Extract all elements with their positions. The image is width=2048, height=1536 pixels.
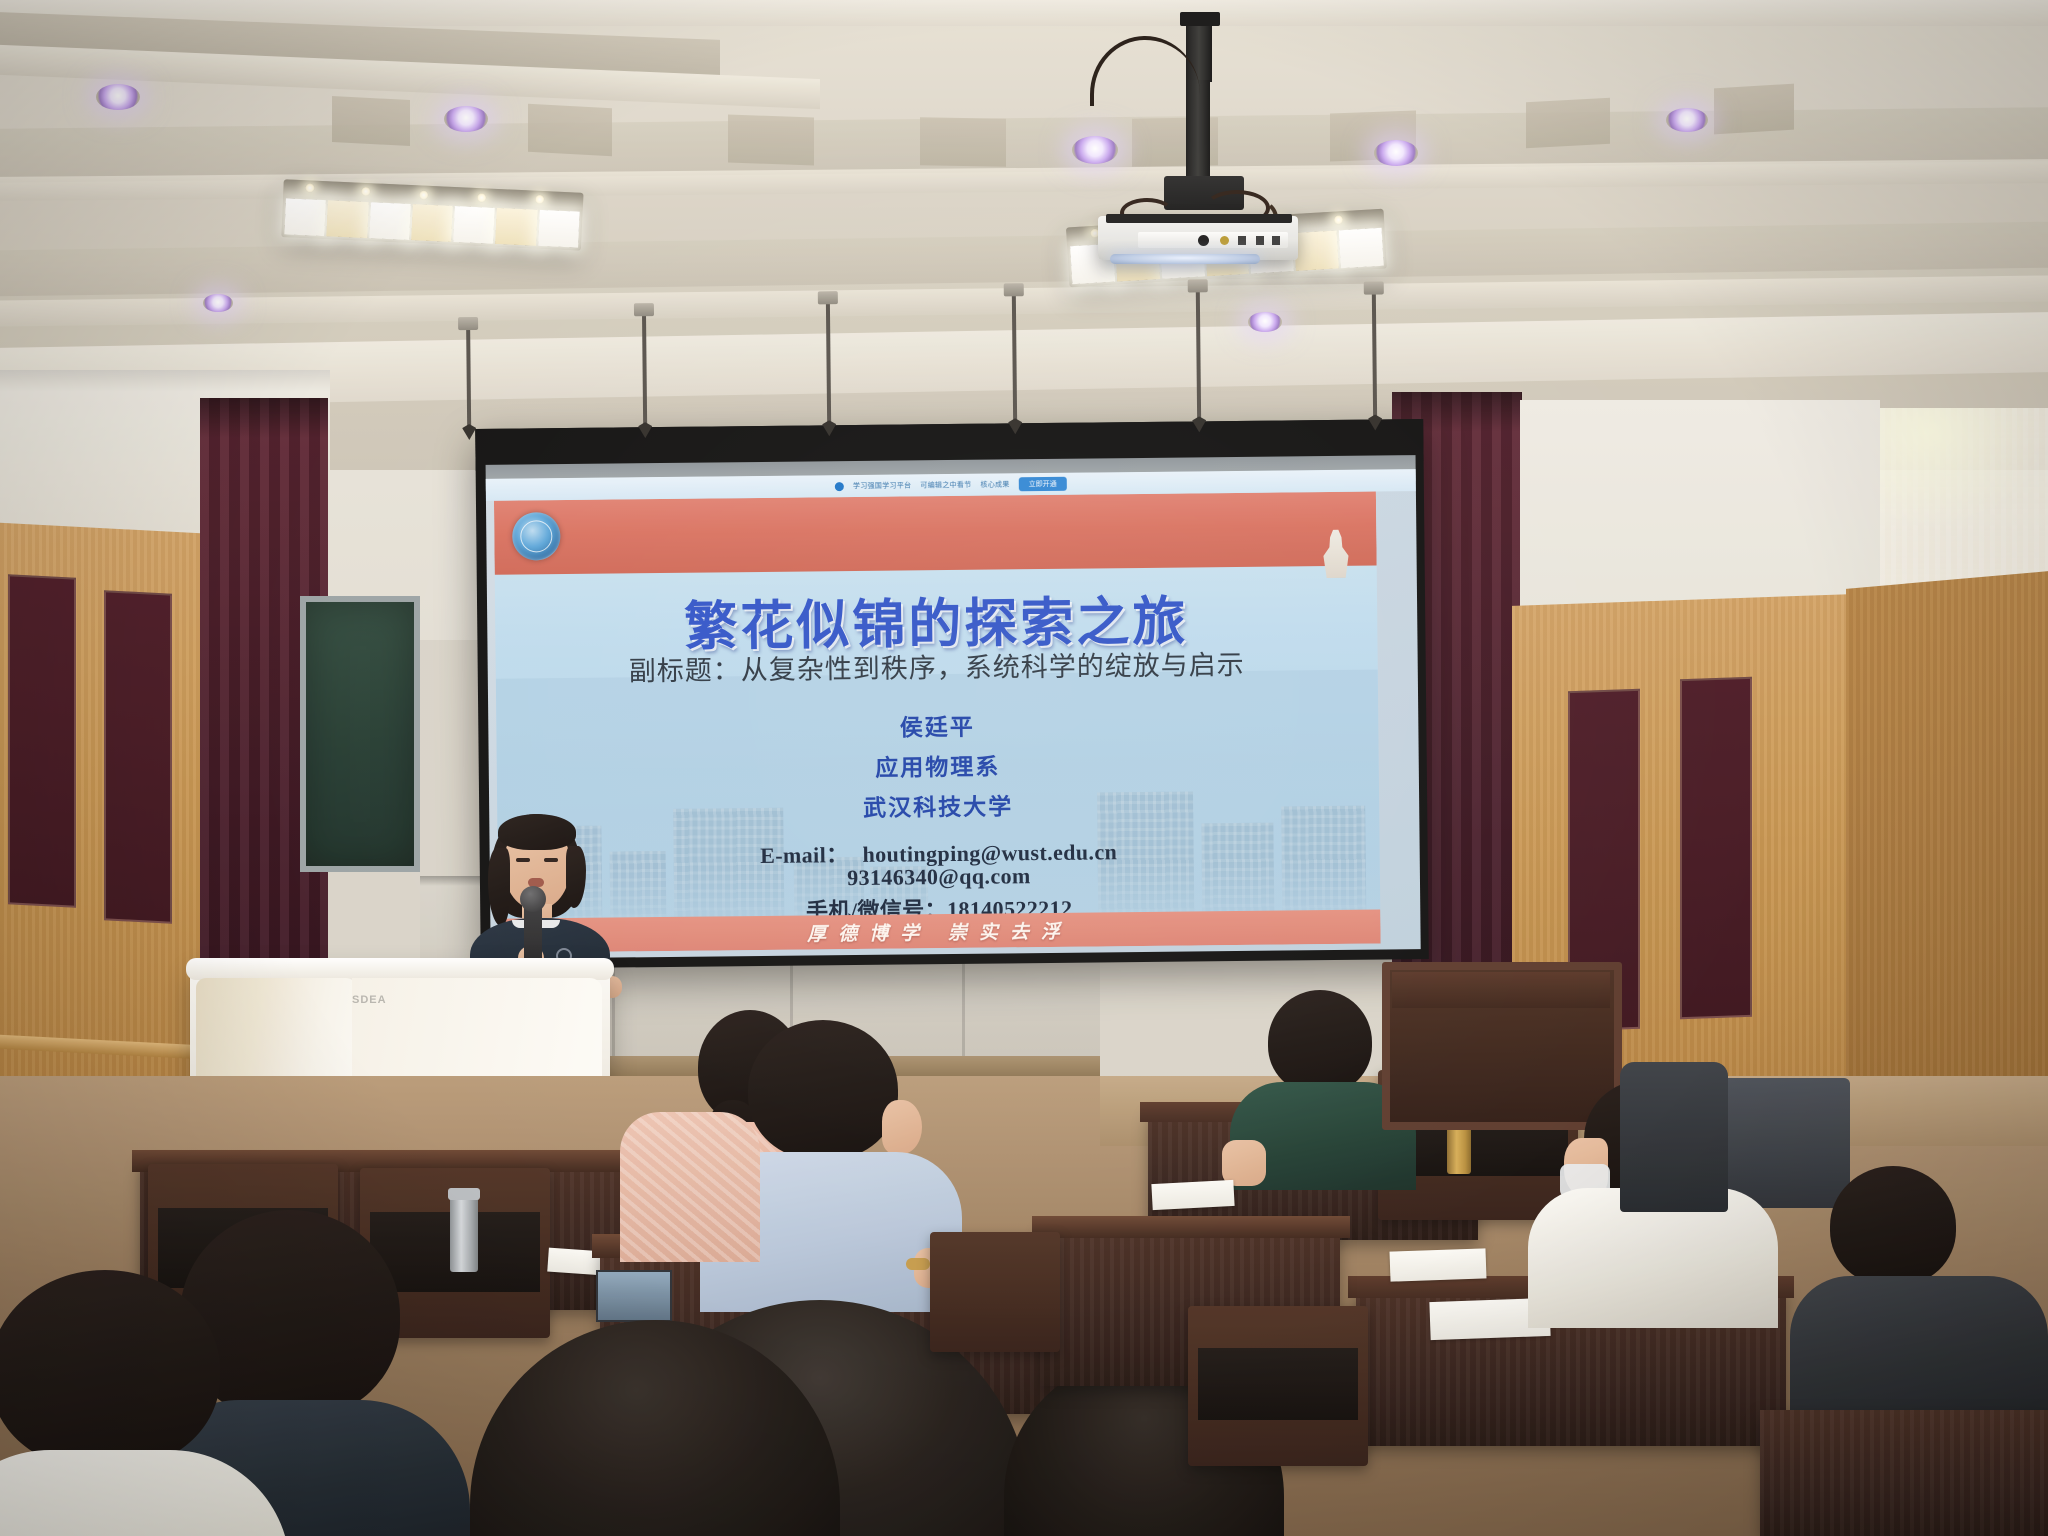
statue-bust-icon: [1316, 520, 1355, 578]
toolbar-item-2[interactable]: 核心成果: [980, 479, 1009, 489]
audience-member: [620, 1072, 760, 1252]
wps-logo-icon: [835, 482, 844, 491]
audience-member: [1800, 1166, 2048, 1416]
downlight-icon: [444, 106, 488, 132]
ceiling-projector: [1080, 8, 1380, 258]
downlight-icon: [203, 294, 233, 312]
toolbar-activate-button[interactable]: 立即开通: [1019, 477, 1067, 492]
email-label: E-mail：: [760, 842, 849, 868]
downlight-icon: [96, 84, 140, 110]
downlight-icon: [1666, 108, 1708, 132]
lecture-hall-photo: 学习强国学习平台 可编辑之中看节 核心成果 立即开通: [0, 0, 2048, 1536]
paper-sheet: [1151, 1180, 1234, 1210]
audience-member: [0, 1270, 290, 1536]
downlight-icon: [1374, 140, 1418, 166]
thermos-bottle: [450, 1196, 478, 1272]
panel-light-left: [280, 179, 583, 267]
audience-member: [470, 1320, 840, 1536]
podium-brand: SDEA: [352, 994, 387, 1006]
chalkboard-left: [300, 596, 420, 872]
paper-sheet: [1390, 1248, 1487, 1281]
toolbar-item-0[interactable]: 学习强国学习平台: [853, 480, 912, 491]
toolbar-item-1[interactable]: 可编辑之中看节: [920, 480, 971, 491]
university-seal-icon: [512, 512, 561, 561]
downlight-icon: [1248, 312, 1282, 332]
chair[interactable]: [930, 1232, 1060, 1352]
chair[interactable]: [1620, 1062, 1728, 1212]
university-motto: 厚德博学 崇实去浮: [807, 916, 1072, 946]
slide-header-band: [494, 492, 1377, 575]
